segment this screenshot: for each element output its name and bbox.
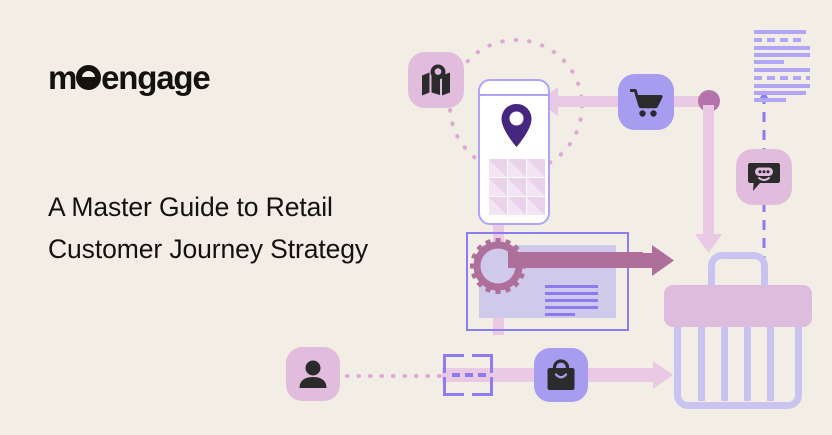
map-location-chip[interactable] bbox=[408, 52, 464, 108]
customer-to-scan-dotted-line bbox=[345, 372, 445, 380]
window-to-basket-line bbox=[508, 252, 643, 268]
cart-to-basket-arrowhead-down bbox=[694, 222, 723, 254]
phone-status-bar bbox=[480, 94, 548, 96]
shopping-bag-chip[interactable] bbox=[534, 348, 588, 402]
mobile-phone-mockup[interactable] bbox=[478, 79, 550, 225]
window-text-line bbox=[545, 299, 598, 302]
basket-handle bbox=[708, 252, 768, 286]
map-pin-icon bbox=[419, 64, 453, 96]
app-tile bbox=[489, 178, 507, 196]
app-tile bbox=[489, 159, 507, 177]
hero-banner: m engage A Master Guide to Retail Custom… bbox=[0, 0, 832, 435]
chatbot-chip[interactable] bbox=[736, 149, 792, 205]
shopping-basket[interactable] bbox=[662, 252, 814, 420]
journey-illustration bbox=[0, 0, 832, 435]
barcode-scan-frame[interactable] bbox=[443, 354, 493, 396]
app-tile bbox=[527, 197, 545, 215]
document-lines-icon bbox=[754, 30, 810, 80]
basket-body bbox=[674, 327, 802, 409]
app-tile bbox=[508, 197, 526, 215]
window-text-line bbox=[545, 292, 598, 295]
basket-slat bbox=[744, 327, 751, 401]
basket-slat bbox=[721, 327, 728, 401]
window-text-line bbox=[545, 285, 598, 288]
basket-slat bbox=[698, 327, 705, 401]
window-text-line bbox=[545, 313, 575, 316]
app-tile bbox=[508, 159, 526, 177]
app-tile bbox=[489, 197, 507, 215]
scan-dashed-line bbox=[452, 373, 486, 377]
cart-to-basket-line bbox=[703, 105, 714, 229]
shopping-cart-chip[interactable] bbox=[618, 74, 674, 130]
window-text-line bbox=[545, 306, 598, 309]
shopping-cart-icon bbox=[629, 87, 663, 117]
basket-slat bbox=[767, 327, 774, 401]
customer-avatar-chip[interactable] bbox=[286, 347, 340, 401]
app-tile bbox=[527, 159, 545, 177]
shopping-bag-icon bbox=[546, 359, 576, 391]
basket-rim-band bbox=[664, 285, 812, 327]
person-icon bbox=[298, 359, 328, 389]
chatbot-message-icon bbox=[746, 161, 782, 193]
app-tile bbox=[508, 178, 526, 196]
app-tile bbox=[527, 178, 545, 196]
location-pin-icon bbox=[500, 103, 533, 148]
